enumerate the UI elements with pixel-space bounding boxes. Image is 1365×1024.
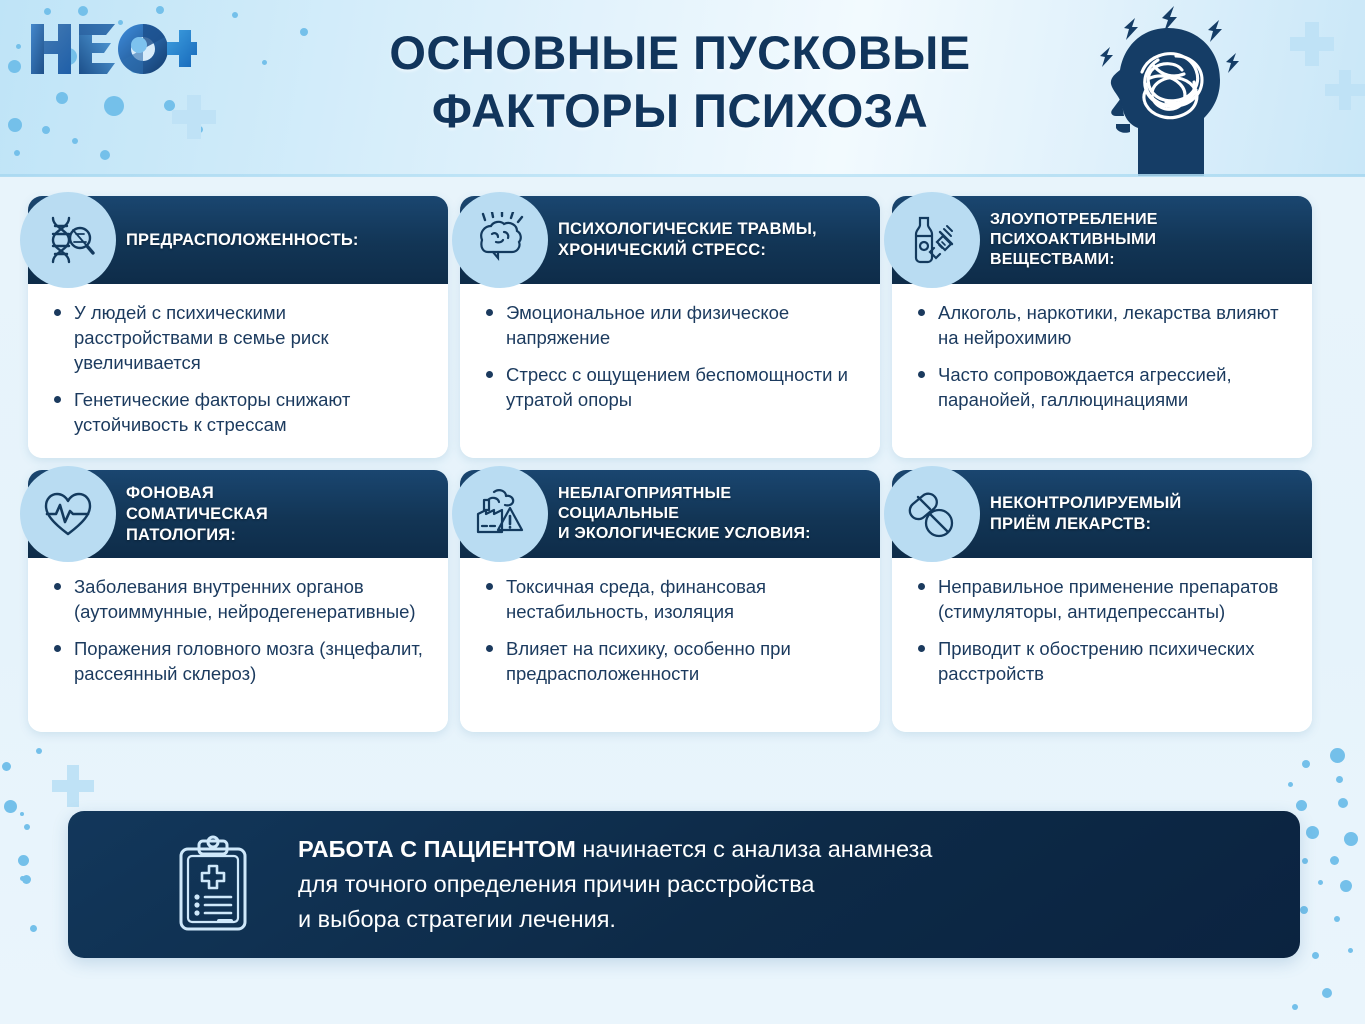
- card-title-line: НЕКОНТРОЛИРУЕМЫЙ: [990, 493, 1181, 514]
- decor-plus-header-right2: [1325, 70, 1365, 110]
- card-predisposition: ПРЕДРАСПОЛОЖЕННОСТЬ: У людей с психическ…: [28, 196, 448, 458]
- card-psychological-trauma: ПСИХОЛОГИЧЕСКИЕ ТРАВМЫ, ХРОНИЧЕСКИЙ СТРЕ…: [460, 196, 880, 458]
- list-item: Заболевания внутренних органов (аутоимму…: [48, 574, 430, 624]
- card-title-line: И ЭКОЛОГИЧЕСКИЕ УСЛОВИЯ:: [558, 524, 811, 544]
- list-item: Поражения головного мозга (знцефалит, ра…: [48, 636, 430, 686]
- card-somatic-pathology: ФОНОВАЯ СОМАТИЧЕСКАЯ ПАТОЛОГИЯ: Заболева…: [28, 470, 448, 732]
- page-title: ОСНОВНЫЕ ПУСКОВЫЕ ФАКТОРЫ ПСИХОЗА: [330, 24, 1030, 140]
- header-band: ОСНОВНЫЕ ПУСКОВЫЕ ФАКТОРЫ ПСИХОЗА: [0, 0, 1365, 176]
- header-divider: [0, 174, 1365, 177]
- card-header: ПРЕДРАСПОЛОЖЕННОСТЬ:: [28, 196, 448, 284]
- card-title-line: СОМАТИЧЕСКАЯ: [126, 504, 268, 525]
- list-item: Токсичная среда, финансовая нестабильнос…: [480, 574, 862, 624]
- bullet-list: Заболевания внутренних органов (аутоимму…: [48, 574, 430, 686]
- factory-warning-icon: [452, 466, 548, 562]
- pills-icon: [884, 466, 980, 562]
- list-item: Алкоголь, наркотики, лекарства влияют на…: [912, 300, 1294, 350]
- list-item: У людей с психическими расстройствами в …: [48, 300, 430, 375]
- dna-magnifier-icon: [20, 192, 116, 288]
- summary-strong: РАБОТА С ПАЦИЕНТОМ: [298, 836, 576, 862]
- card-title-line: ФОНОВАЯ: [126, 483, 268, 504]
- card-title-line: ПРЕДРАСПОЛОЖЕННОСТЬ:: [126, 231, 359, 249]
- list-item: Эмоциональное или физическое напряжение: [480, 300, 862, 350]
- bullet-list: У людей с психическими расстройствами в …: [48, 300, 430, 437]
- card-header: НЕКОНТРОЛИРУЕМЫЙ ПРИЁМ ЛЕКАРСТВ:: [892, 470, 1312, 558]
- card-title: ЗЛОУПОТРЕБЛЕНИЕ ПСИХОАКТИВНЫМИ ВЕЩЕСТВАМ…: [990, 210, 1158, 270]
- decor-plus-body-left: [52, 765, 94, 807]
- card-title: НЕБЛАГОПРИЯТНЫЕ СОЦИАЛЬНЫЕ И ЭКОЛОГИЧЕСК…: [558, 484, 811, 544]
- card-header: ФОНОВАЯ СОМАТИЧЕСКАЯ ПАТОЛОГИЯ:: [28, 470, 448, 558]
- list-item: Часто сопровождается агрессией, паранойе…: [912, 362, 1294, 412]
- card-title-line: ВЕЩЕСТВАМИ:: [990, 250, 1158, 270]
- title-line-2: ФАКТОРЫ ПСИХОЗА: [330, 82, 1030, 140]
- summary-line-1-rest: начинается с анализа анамнеза: [576, 836, 933, 862]
- list-item: Влияет на психику, особенно при предрасп…: [480, 636, 862, 686]
- card-title-line: ПСИХОЛОГИЧЕСКИЕ ТРАВМЫ,: [558, 219, 817, 240]
- list-item: Стресс с ощущением беспомощности и утрат…: [480, 362, 862, 412]
- infographic-page: ОСНОВНЫЕ ПУСКОВЫЕ ФАКТОРЫ ПСИХОЗА: [0, 0, 1365, 1024]
- heart-pulse-icon: [20, 466, 116, 562]
- brand-logo[interactable]: [27, 18, 197, 80]
- head-brain-illustration: [1080, 6, 1280, 176]
- bullet-list: Эмоциональное или физическое напряжение …: [480, 300, 862, 412]
- card-header: ПСИХОЛОГИЧЕСКИЕ ТРАВМЫ, ХРОНИЧЕСКИЙ СТРЕ…: [460, 196, 880, 284]
- title-line-1: ОСНОВНЫЕ ПУСКОВЫЕ: [330, 24, 1030, 82]
- card-title-line: ПАТОЛОГИЯ:: [126, 525, 268, 546]
- summary-banner: РАБОТА С ПАЦИЕНТОМ начинается с анализа …: [68, 811, 1300, 958]
- card-body: Токсичная среда, финансовая нестабильнос…: [460, 558, 880, 732]
- list-item: Приводит к обострению психических расстр…: [912, 636, 1294, 686]
- card-uncontrolled-medication: НЕКОНТРОЛИРУЕМЫЙ ПРИЁМ ЛЕКАРСТВ: Неправи…: [892, 470, 1312, 732]
- list-item: Неправильное применение препаратов (стим…: [912, 574, 1294, 624]
- card-body: Эмоциональное или физическое напряжение …: [460, 284, 880, 458]
- card-title: НЕКОНТРОЛИРУЕМЫЙ ПРИЁМ ЛЕКАРСТВ:: [990, 493, 1181, 535]
- card-title: ПСИХОЛОГИЧЕСКИЕ ТРАВМЫ, ХРОНИЧЕСКИЙ СТРЕ…: [558, 219, 817, 261]
- card-header: ЗЛОУПОТРЕБЛЕНИЕ ПСИХОАКТИВНЫМИ ВЕЩЕСТВАМ…: [892, 196, 1312, 284]
- card-title-line: СОЦИАЛЬНЫЕ: [558, 504, 811, 524]
- list-item: Генетические факторы снижают устойчивост…: [48, 387, 430, 437]
- card-substance-abuse: ЗЛОУПОТРЕБЛЕНИЕ ПСИХОАКТИВНЫМИ ВЕЩЕСТВАМ…: [892, 196, 1312, 458]
- summary-text: РАБОТА С ПАЦИЕНТОМ начинается с анализа …: [298, 832, 932, 937]
- bottle-syringe-icon: [884, 192, 980, 288]
- card-title: ФОНОВАЯ СОМАТИЧЕСКАЯ ПАТОЛОГИЯ:: [126, 483, 268, 546]
- card-title-line: ЗЛОУПОТРЕБЛЕНИЕ: [990, 210, 1158, 230]
- bullet-list: Неправильное применение препаратов (стим…: [912, 574, 1294, 686]
- summary-line-1: РАБОТА С ПАЦИЕНТОМ начинается с анализа …: [298, 832, 932, 867]
- card-title: ПРЕДРАСПОЛОЖЕННОСТЬ:: [126, 230, 359, 251]
- stressed-brain-icon: [452, 192, 548, 288]
- card-body: Алкоголь, наркотики, лекарства влияют на…: [892, 284, 1312, 458]
- decor-plus-header: [172, 95, 216, 139]
- decor-plus-header-right: [1290, 22, 1334, 66]
- card-title-line: НЕБЛАГОПРИЯТНЫЕ: [558, 484, 811, 504]
- card-body: У людей с психическими расстройствами в …: [28, 284, 448, 458]
- factors-card-grid: ПРЕДРАСПОЛОЖЕННОСТЬ: У людей с психическ…: [28, 196, 1338, 732]
- card-body: Заболевания внутренних органов (аутоимму…: [28, 558, 448, 732]
- card-title-line: ПРИЁМ ЛЕКАРСТВ:: [990, 514, 1181, 535]
- card-social-ecological: НЕБЛАГОПРИЯТНЫЕ СОЦИАЛЬНЫЕ И ЭКОЛОГИЧЕСК…: [460, 470, 880, 732]
- summary-line-3: и выбора стратегии лечения.: [298, 902, 932, 937]
- card-header: НЕБЛАГОПРИЯТНЫЕ СОЦИАЛЬНЫЕ И ЭКОЛОГИЧЕСК…: [460, 470, 880, 558]
- clipboard-medical-icon: [173, 835, 253, 935]
- bullet-list: Алкоголь, наркотики, лекарства влияют на…: [912, 300, 1294, 412]
- summary-line-2: для точного определения причин расстройс…: [298, 867, 932, 902]
- card-title-line: ПСИХОАКТИВНЫМИ: [990, 230, 1158, 250]
- card-title-line: ХРОНИЧЕСКИЙ СТРЕСС:: [558, 240, 817, 261]
- card-body: Неправильное применение препаратов (стим…: [892, 558, 1312, 732]
- bullet-list: Токсичная среда, финансовая нестабильнос…: [480, 574, 862, 686]
